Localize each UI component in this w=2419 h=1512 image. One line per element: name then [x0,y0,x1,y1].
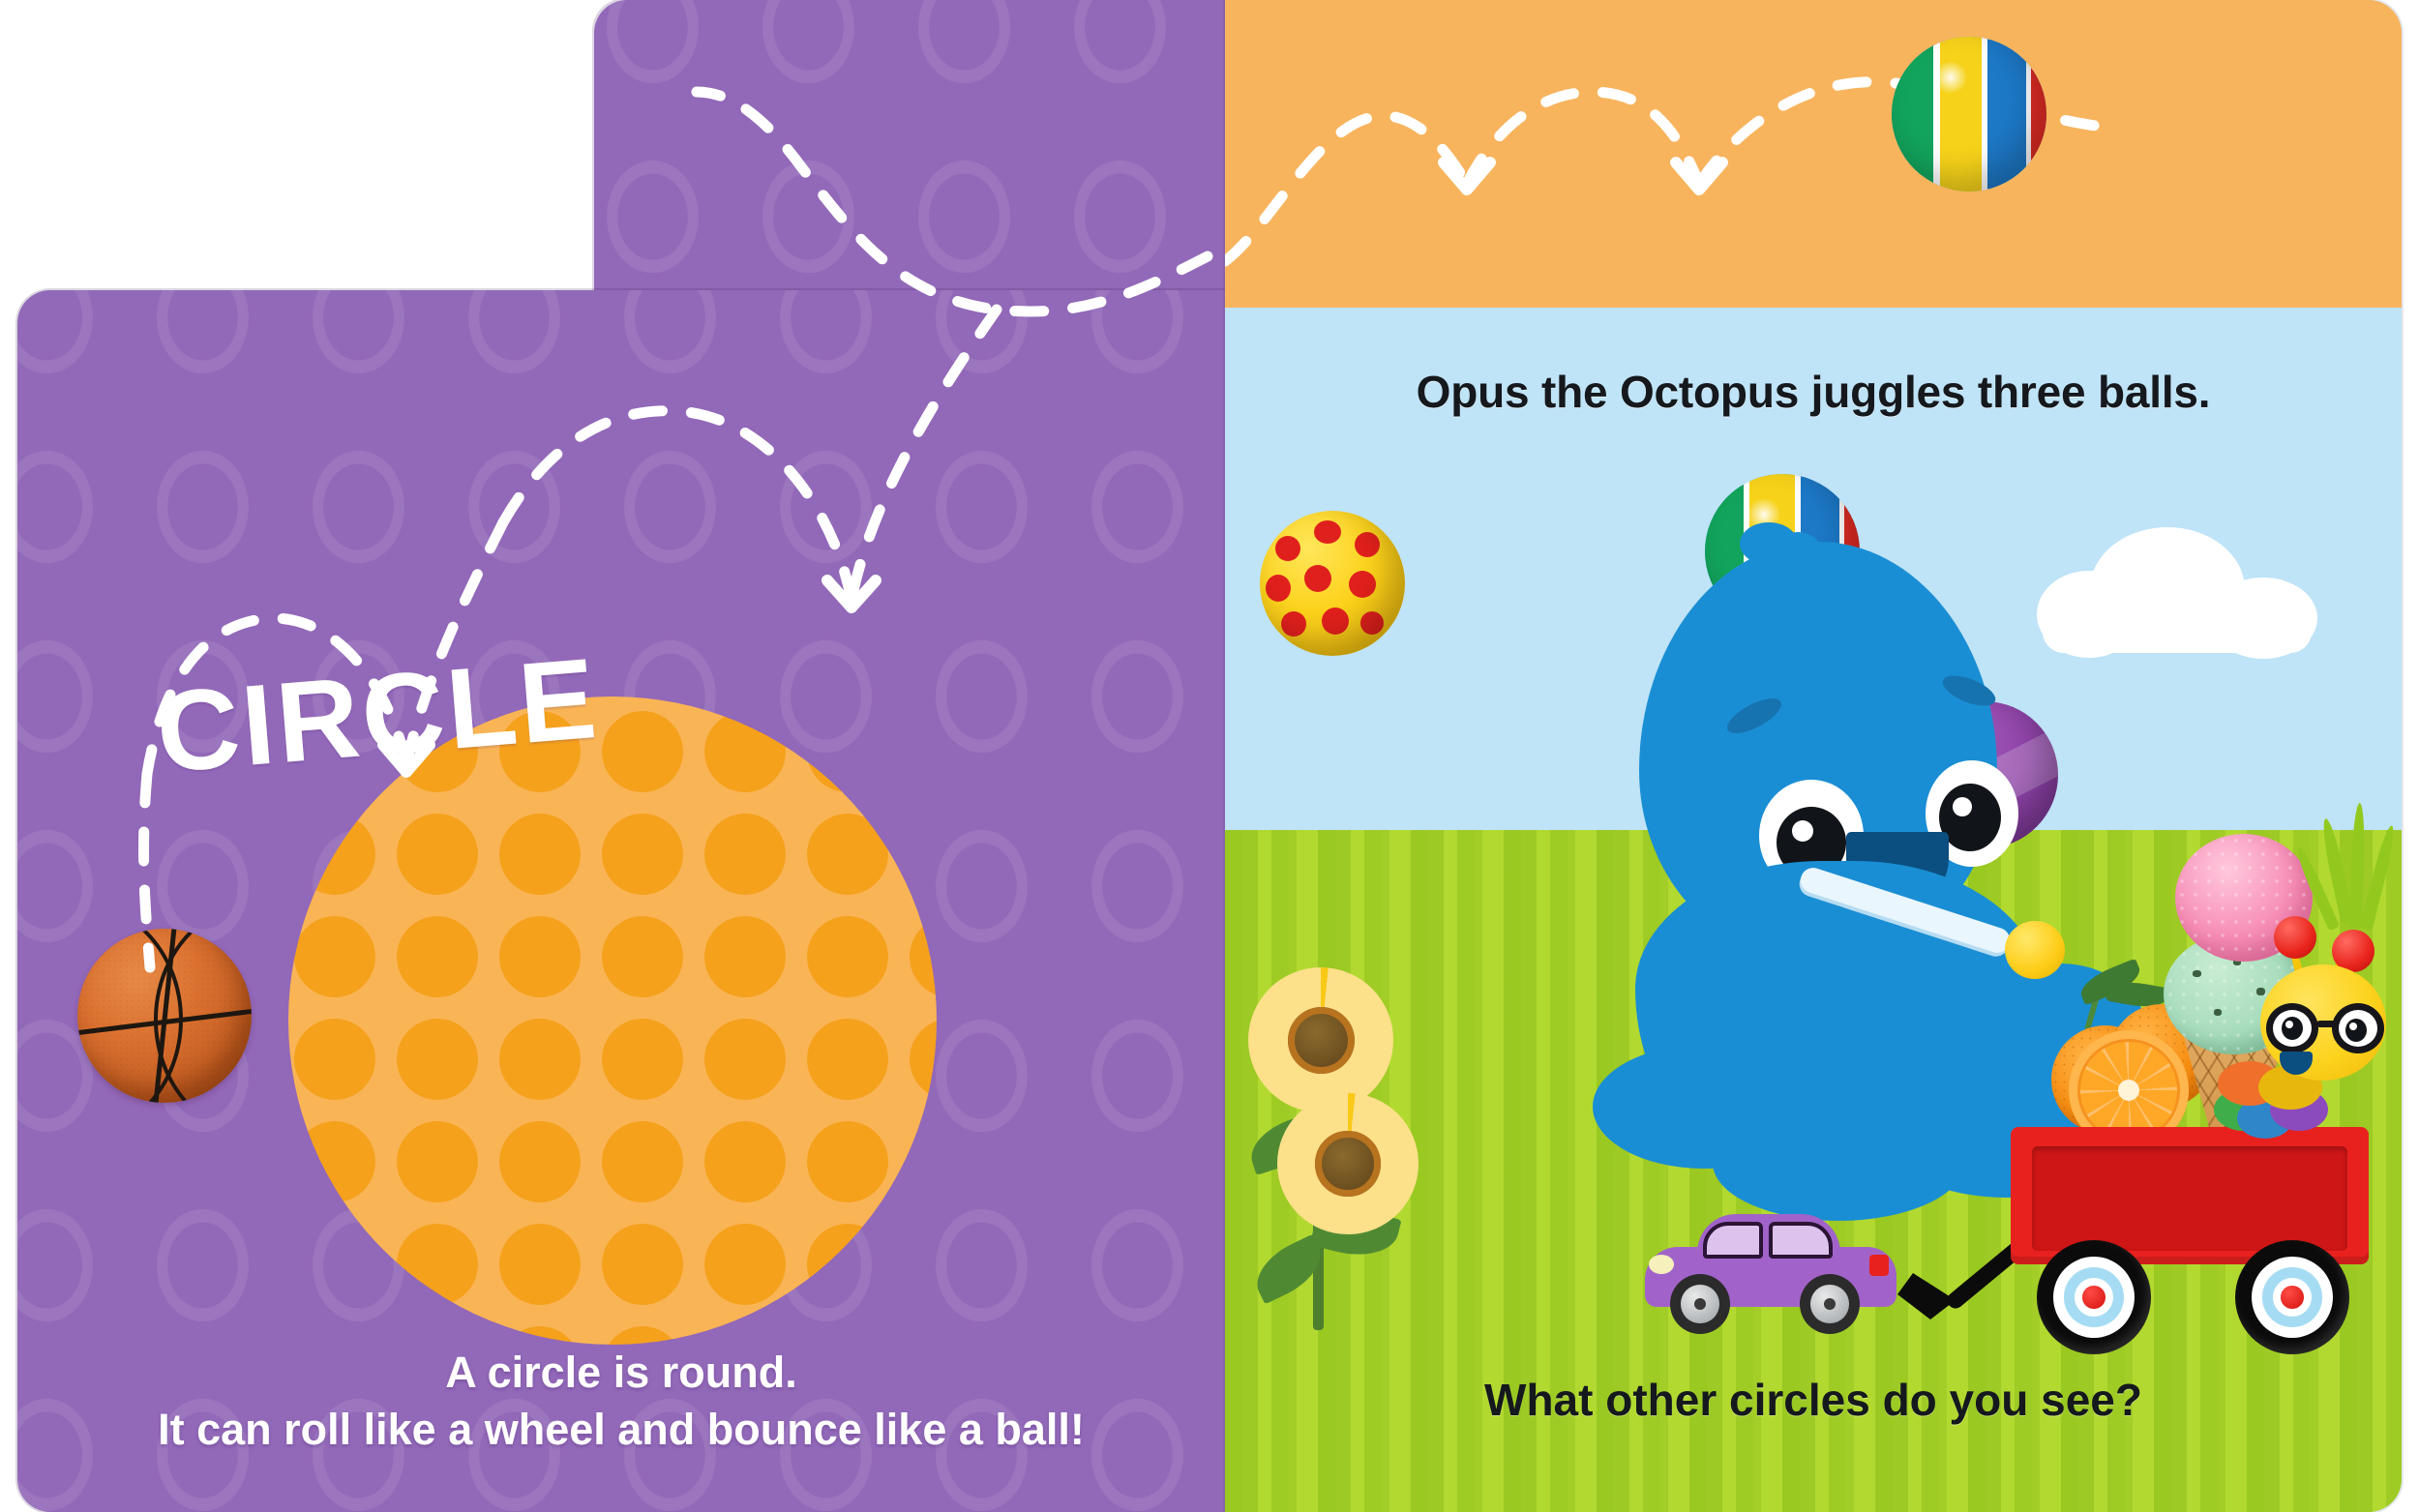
sunflower-icon [1248,967,1393,1112]
yellow-polka-dot-ball-icon [1260,511,1405,656]
caption-line-2: It can roll like a wheel and bounce like… [17,1402,1225,1459]
oval-pattern-texture [594,0,1225,310]
caption-line-1: A circle is round. [17,1345,1225,1402]
headline-text: Opus the Octopus juggles three balls. [1225,366,2402,418]
basketball-icon [77,929,252,1103]
footline-text: What other circles do you see? [1225,1374,2402,1426]
left-caption: A circle is round. It can roll like a wh… [17,1345,1225,1458]
orange-dotted-circle [288,697,937,1345]
left-page-tab [594,0,1225,310]
book-spread: CIRCLE A circle is round. It can roll li… [0,0,2419,1512]
left-page: CIRCLE A circle is round. It can roll li… [17,290,1225,1512]
beach-ball-top-icon [1892,37,2046,192]
sunflower-icon [1277,1093,1419,1234]
caterpillar-character [2208,943,2411,1141]
dashed-bounce-path-right-icon [1225,0,2402,319]
purple-toy-car-icon [1645,1214,1896,1330]
